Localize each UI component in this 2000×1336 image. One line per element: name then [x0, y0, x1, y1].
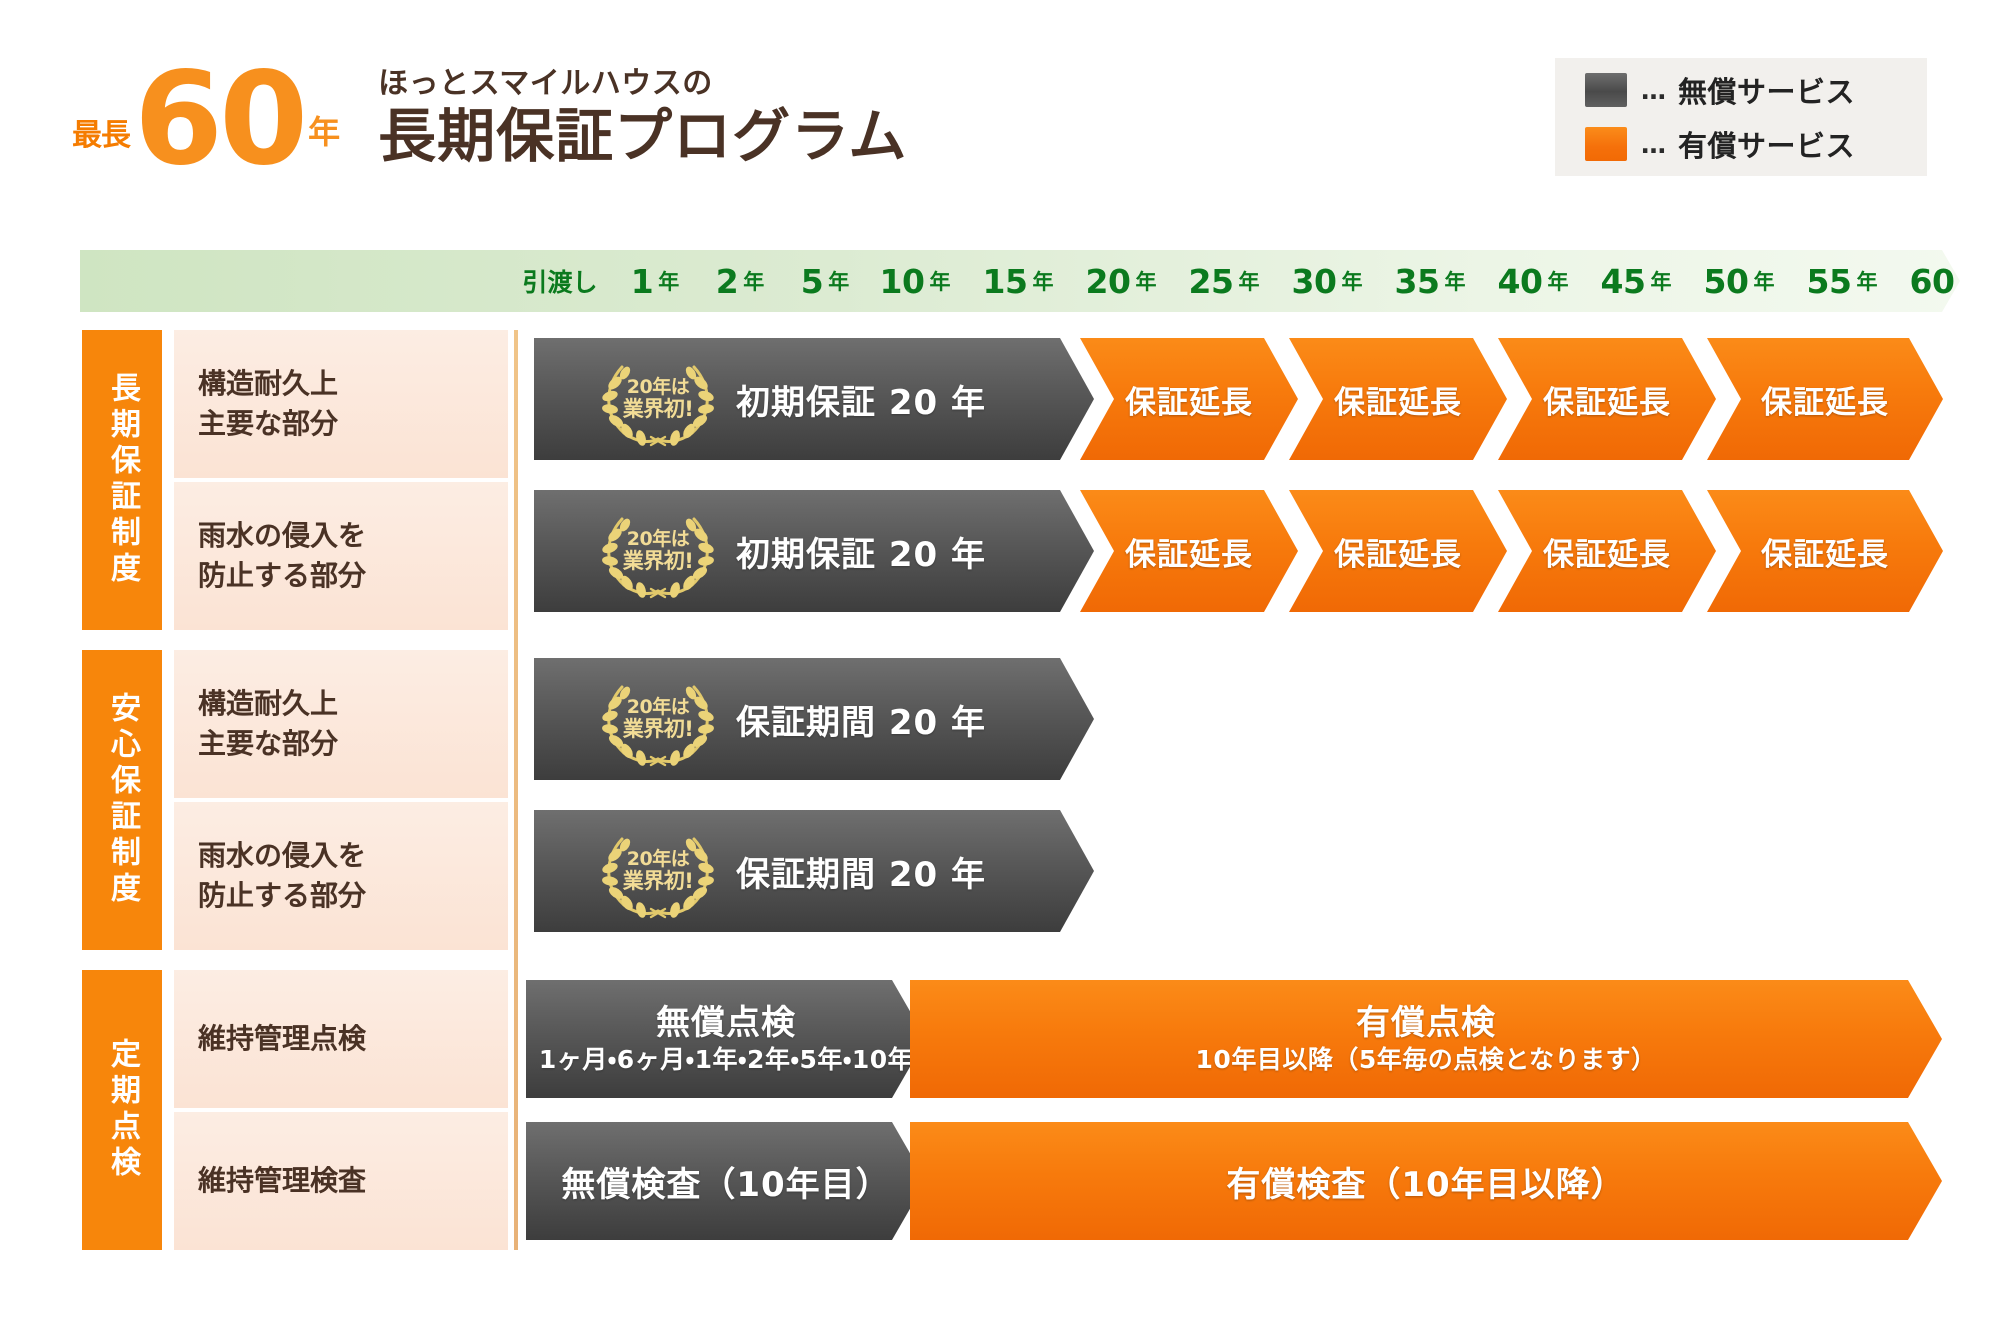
bar-row2-extension-4[interactable]: 保証延長 — [1707, 490, 1943, 612]
legend-dots: … — [1641, 130, 1668, 159]
bar-label: 保証延長 — [1334, 529, 1462, 574]
timeline-tick-50: 50年 — [1679, 250, 1799, 312]
badge-text: 20年は 業界初! — [594, 671, 722, 767]
bar-row5-free-inspection[interactable]: 無償点検 1ヶ月・6ヶ月・1年・2年・5年・10年 — [526, 980, 926, 1098]
row-label-2: 雨水の侵入を防止する部分 — [174, 482, 508, 630]
group-label-anshin-warranty: 安心保証制度 — [82, 650, 162, 950]
bar-label: 無償検査（10年目） — [561, 1157, 890, 1206]
timeline-tick-40: 40年 — [1473, 250, 1593, 312]
bar-label-sub: 10年目以降（5年毎の点検となります） — [1196, 1044, 1657, 1077]
laurel-wreath-icon: 20年は 業界初! — [594, 351, 722, 447]
bar-row2-extension-1[interactable]: 保証延長 — [1080, 490, 1298, 612]
bar-label-title: 有償点検 — [1356, 1002, 1496, 1045]
timeline-tick-45: 45年 — [1576, 250, 1696, 312]
title-prefix: 最長 — [72, 121, 130, 173]
bar-row4-warranty-period[interactable]: 20年は 業界初! 保証期間 20 年 — [534, 810, 1094, 932]
badge-text: 20年は 業界初! — [594, 503, 722, 599]
row-label-1: 構造耐久上主要な部分 — [174, 330, 508, 478]
badge-text: 20年は 業界初! — [594, 823, 722, 919]
row-label-5: 維持管理点検 — [174, 970, 508, 1108]
bar-row2-extension-3[interactable]: 保証延長 — [1498, 490, 1716, 612]
bar-label: 保証期間 20 年 — [736, 695, 986, 744]
row-label-4: 雨水の侵入を防止する部分 — [174, 802, 508, 950]
legend-label-paid: 有償サービス — [1678, 123, 1855, 165]
title-text-block: ほっとスマイルハウスの 長期保証プログラム — [378, 58, 907, 173]
bar-row1-extension-4[interactable]: 保証延長 — [1707, 338, 1943, 460]
laurel-wreath-icon: 20年は 業界初! — [594, 503, 722, 599]
gray-swatch-icon — [1585, 73, 1627, 107]
bar-label: 保証延長 — [1543, 377, 1671, 422]
timeline-tick-30: 30年 — [1267, 250, 1387, 312]
bar-label-stack: 有償点検 10年目以降（5年毎の点検となります） — [910, 1002, 1942, 1077]
bar-label: 保証期間 20 年 — [736, 847, 986, 896]
bar-label: 保証延長 — [1761, 529, 1889, 574]
infographic-root: 最長 60 年 ほっとスマイルハウスの 長期保証プログラム … 無償サービス …… — [0, 0, 2000, 1336]
bar-label: 保証延長 — [1761, 377, 1889, 422]
legend: … 無償サービス … 有償サービス — [1555, 58, 1927, 176]
sub-title: ほっとスマイルハウスの — [378, 58, 907, 102]
badge-text: 20年は 業界初! — [594, 351, 722, 447]
timeline-tick-55: 55年 — [1782, 250, 1902, 312]
bar-row2-initial-warranty[interactable]: 20年は 業界初! 初期保証 20 年 — [534, 490, 1094, 612]
row-label-3: 構造耐久上主要な部分 — [174, 650, 508, 798]
bar-row6-paid-examination[interactable]: 有償検査（10年目以降） — [910, 1122, 1942, 1240]
legend-item-free: … 無償サービス — [1585, 69, 1927, 111]
bar-label: 有償検査（10年目以降） — [1226, 1157, 1625, 1206]
bar-row1-extension-3[interactable]: 保証延長 — [1498, 338, 1716, 460]
timeline-tick-60: 60年 — [1885, 250, 2000, 312]
legend-item-paid: … 有償サービス — [1585, 123, 1927, 165]
title-unit: 年 — [308, 107, 340, 173]
orange-swatch-icon — [1585, 127, 1627, 161]
bar-row1-initial-warranty[interactable]: 20年は 業界初! 初期保証 20 年 — [534, 338, 1094, 460]
bar-label: 保証延長 — [1334, 377, 1462, 422]
bar-label-title: 無償点検 — [656, 1002, 796, 1045]
bar-row5-paid-inspection[interactable]: 有償点検 10年目以降（5年毎の点検となります） — [910, 980, 1942, 1098]
chart-grid: 長期保証制度 安心保証制度 定期点検 構造耐久上主要な部分 雨水の侵入を防止する… — [0, 330, 2000, 1250]
page-title: 長期保証プログラム — [378, 106, 907, 167]
title-number: 60 — [134, 68, 304, 173]
row-label-6: 維持管理検査 — [174, 1112, 508, 1250]
bar-label-stack: 無償点検 1ヶ月・6ヶ月・1年・2年・5年・10年 — [526, 1002, 926, 1077]
bar-row6-free-examination[interactable]: 無償検査（10年目） — [526, 1122, 926, 1240]
laurel-wreath-icon: 20年は 業界初! — [594, 823, 722, 919]
bar-label: 初期保証 20 年 — [736, 527, 986, 576]
bar-row1-extension-1[interactable]: 保証延長 — [1080, 338, 1298, 460]
bar-label: 保証延長 — [1125, 377, 1253, 422]
header: 最長 60 年 ほっとスマイルハウスの 長期保証プログラム … 無償サービス …… — [0, 0, 2000, 230]
legend-dots: … — [1641, 76, 1668, 105]
bar-row1-extension-2[interactable]: 保証延長 — [1289, 338, 1507, 460]
timeline-tick-15: 15年 — [958, 250, 1078, 312]
bar-row2-extension-2[interactable]: 保証延長 — [1289, 490, 1507, 612]
bar-row3-warranty-period[interactable]: 20年は 業界初! 保証期間 20 年 — [534, 658, 1094, 780]
title-block: 最長 60 年 ほっとスマイルハウスの 長期保証プログラム — [72, 58, 907, 173]
timeline-tick-25: 25年 — [1164, 250, 1284, 312]
timeline-tick-35: 35年 — [1370, 250, 1490, 312]
group-label-periodic-inspection: 定期点検 — [82, 970, 162, 1250]
group-label-long-term-warranty: 長期保証制度 — [82, 330, 162, 630]
timeline-tick-20: 20年 — [1061, 250, 1181, 312]
timeline-origin-divider — [514, 330, 518, 1250]
timeline-axis: 引渡し 1年 2年 5年 10年 15年 20年 25年 30年 35年 40年… — [80, 250, 1960, 312]
bar-label: 初期保証 20 年 — [736, 375, 986, 424]
bar-label-sub: 1ヶ月・6ヶ月・1年・2年・5年・10年 — [539, 1044, 913, 1077]
bar-label: 保証延長 — [1543, 529, 1671, 574]
timeline-tick-10: 10年 — [855, 250, 975, 312]
bar-label: 保証延長 — [1125, 529, 1253, 574]
legend-label-free: 無償サービス — [1678, 69, 1855, 111]
laurel-wreath-icon: 20年は 業界初! — [594, 671, 722, 767]
